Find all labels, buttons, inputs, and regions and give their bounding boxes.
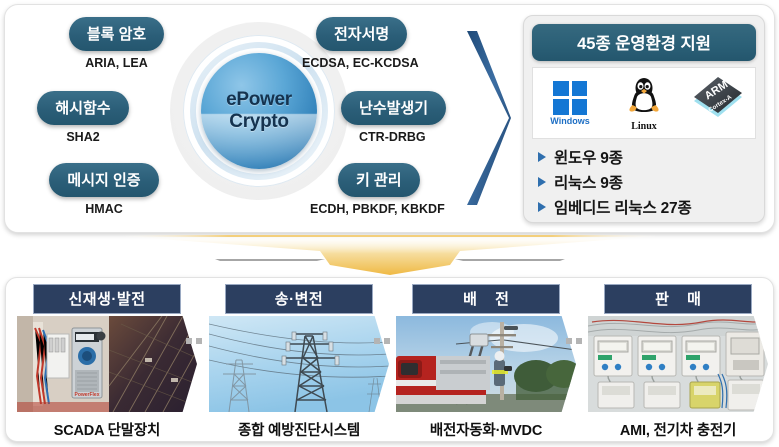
linux-logo-icon [626, 75, 662, 115]
os-support-panel: 45종 운영환경 지원 Windows [523, 15, 765, 223]
stage-generation: 신재생·발전 [12, 284, 202, 436]
stage-distribution-image [396, 316, 576, 412]
os-list-item: 리눅스 9종 [538, 171, 756, 193]
chevron-right-icon [463, 29, 511, 207]
stage-sales-caption: AMI, 전기차 충전기 [583, 419, 773, 440]
core-sphere: ePower Crypto [201, 53, 317, 169]
algorithm-digital-signature: 전자서명 ECDSA, EC-KCDSA [300, 17, 460, 70]
algorithm-message-auth-detail: HMAC [33, 202, 175, 216]
linux-logo-cell: Linux [608, 75, 680, 132]
algorithm-block-cipher-label: 블록 암호 [69, 17, 164, 51]
stage-sales-header: 판 매 [604, 284, 752, 314]
windows-logo-cell: Windows [534, 81, 606, 126]
stage-sales-image [588, 316, 768, 412]
power-value-chain-panel: 신재생·발전 [5, 277, 774, 442]
stage-transmission: 송·변전 [204, 284, 394, 436]
os-list-item: 임베디드 리눅스 27종 [538, 196, 756, 218]
os-list-item-label: 리눅스 9종 [554, 171, 623, 193]
os-support-list: 윈도우 9종 리눅스 9종 임베디드 리눅스 27종 [532, 146, 756, 218]
algorithm-hash-function: 해시함수 SHA2 [13, 91, 153, 144]
stage-transmission-image [209, 316, 389, 412]
algorithm-key-management-label: 키 관리 [338, 163, 420, 197]
stage-transmission-caption: 종합 예방진단시스템 [204, 419, 394, 440]
algorithm-message-auth: 메시지 인증 HMAC [33, 163, 175, 216]
stage-transmission-header: 송·변전 [225, 284, 373, 314]
algorithm-hash-function-detail: SHA2 [13, 130, 153, 144]
algorithm-random-generator-label: 난수발생기 [341, 91, 446, 125]
stage-generation-header: 신재생·발전 [33, 284, 181, 314]
os-list-item-label: 윈도우 9종 [554, 146, 623, 168]
stage-generation-caption: SCADA 단말장치 [12, 419, 202, 440]
triangle-right-icon [538, 202, 546, 212]
algorithm-digital-signature-detail: ECDSA, EC-KCDSA [302, 56, 460, 70]
arm-chip-cell: ARM Cortex-A [682, 72, 754, 135]
os-list-item: 윈도우 9종 [538, 146, 756, 168]
algorithm-hash-function-label: 해시함수 [37, 91, 128, 125]
os-list-item-label: 임베디드 리눅스 27종 [554, 196, 692, 218]
stage-distribution-caption: 배전자동화·MVDC [391, 419, 581, 440]
infographic-root: ePower Crypto 블록 암호 ARIA, LEA 해시함수 SHA2 … [0, 0, 779, 447]
stage-sales: 판 매 [583, 284, 773, 436]
stage-distribution-header: 배 전 [412, 284, 560, 314]
algorithm-message-auth-label: 메시지 인증 [49, 163, 158, 197]
algorithm-digital-signature-label: 전자서명 [316, 17, 407, 51]
core-title-line1: ePower [226, 89, 292, 111]
triangle-right-icon [538, 152, 546, 162]
stage-generation-image: PowerFlex [17, 316, 197, 412]
gold-down-arrow-icon [120, 235, 660, 277]
algorithm-block-cipher-detail: ARIA, LEA [49, 56, 184, 70]
linux-logo-caption: Linux [608, 121, 680, 132]
svg-text:PowerFlex: PowerFlex [74, 392, 99, 398]
algorithm-block-cipher: 블록 암호 ARIA, LEA [49, 17, 184, 70]
os-logo-row: Windows Linux [532, 67, 756, 139]
windows-logo-icon [553, 81, 587, 115]
triangle-right-icon [538, 177, 546, 187]
windows-logo-caption: Windows [534, 116, 606, 126]
core-title-line2: Crypto [229, 111, 288, 133]
stage-distribution: 배 전 [391, 284, 581, 436]
os-support-title: 45종 운영환경 지원 [532, 24, 756, 61]
crypto-library-panel: ePower Crypto 블록 암호 ARIA, LEA 해시함수 SHA2 … [4, 4, 775, 233]
arm-chip-icon: ARM Cortex-A [687, 72, 749, 130]
